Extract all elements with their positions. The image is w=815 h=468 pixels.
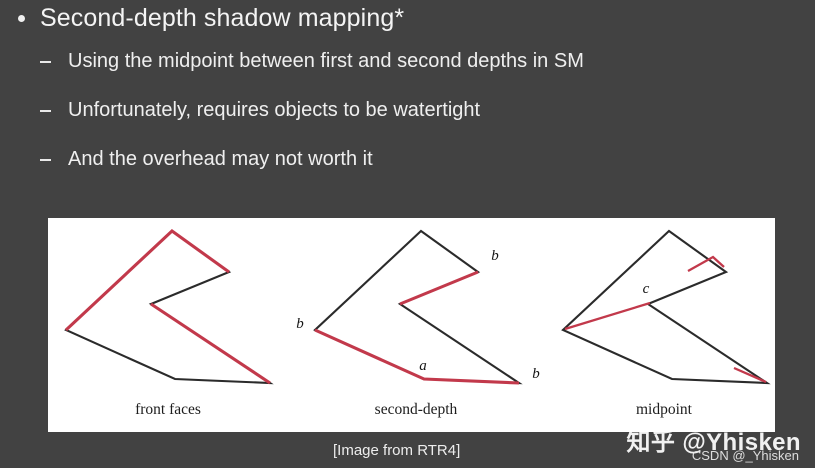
diagram-midpoint: c midpoint <box>563 231 767 418</box>
dash-marker-icon <box>40 110 51 112</box>
slide-title-row: Second-depth shadow mapping* <box>18 2 404 34</box>
figure-image: front faces b b a b second-depth <box>48 218 775 432</box>
watermark-secondary: CSDN @_Yhisken <box>692 448 799 463</box>
polygon-outline <box>563 231 767 383</box>
source-caption: [Image from RTR4] <box>333 442 460 459</box>
front-face-edge-lower <box>151 304 270 383</box>
vertex-label-b-right: b <box>532 366 540 382</box>
bullet-list: Using the midpoint between first and sec… <box>40 48 770 195</box>
midpoint-edge-upper <box>688 257 724 271</box>
polygon-outline <box>66 231 270 383</box>
list-item: And the overhead may not worth it <box>40 146 770 195</box>
vertex-label-a: a <box>419 358 427 374</box>
slide-canvas: Second-depth shadow mapping* Using the m… <box>0 0 815 468</box>
page-title: Second-depth shadow mapping* <box>40 2 404 34</box>
panel-caption: second-depth <box>375 401 458 418</box>
bullet-text: Unfortunately, requires objects to be wa… <box>68 97 480 123</box>
diagram-second-depth: b b a b second-depth <box>296 231 540 418</box>
vertex-label-b-left: b <box>296 316 304 332</box>
dash-marker-icon <box>40 61 51 63</box>
dash-marker-icon <box>40 159 51 161</box>
vertex-label-b-top: b <box>491 248 499 264</box>
diagram-front-faces: front faces <box>66 231 270 418</box>
midpoint-edge-lower <box>734 368 766 382</box>
bullet-dot-icon <box>18 15 25 22</box>
bullet-text: And the overhead may not worth it <box>68 146 373 172</box>
panel-caption: midpoint <box>636 401 693 418</box>
second-depth-edge-lower <box>315 330 519 383</box>
list-item: Unfortunately, requires objects to be wa… <box>40 97 770 146</box>
panel-caption: front faces <box>135 401 201 418</box>
figure-svg: front faces b b a b second-depth <box>48 218 775 432</box>
front-face-edge-upper <box>66 231 229 330</box>
second-depth-edge-upper <box>400 272 478 304</box>
bullet-text: Using the midpoint between first and sec… <box>68 48 584 74</box>
list-item: Using the midpoint between first and sec… <box>40 48 770 97</box>
polygon-outline <box>315 231 519 383</box>
vertex-label-c: c <box>643 281 650 297</box>
